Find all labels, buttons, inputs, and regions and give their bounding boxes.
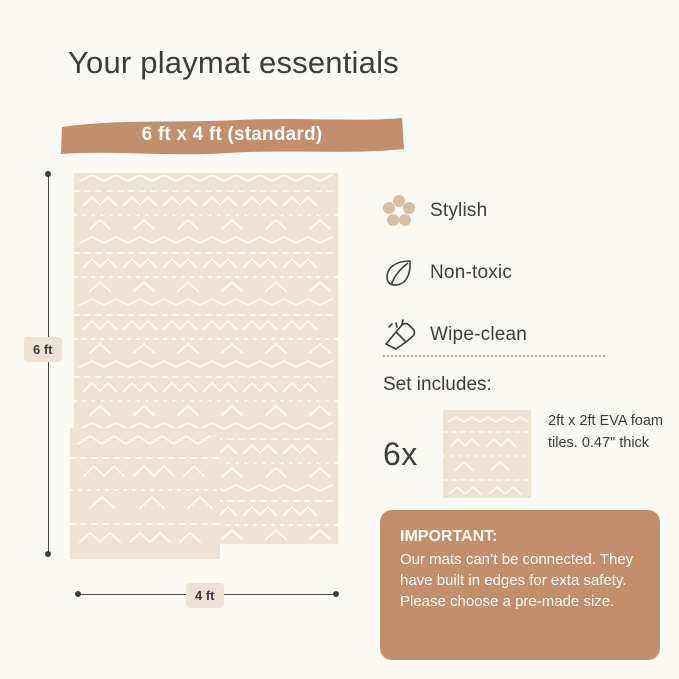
important-note: IMPORTANT: Our mats can’t be connected. … [380,510,660,660]
height-guide-dot-top [45,171,51,177]
eva-tile-image [443,410,531,498]
set-includes-heading: Set includes: [383,374,492,396]
infographic-page: Your playmat essentials 6 ft x 4 ft (sta… [0,0,679,679]
feature-label: Stylish [430,200,487,222]
tile-thumbnail-pattern [443,410,531,498]
size-banner-label: 6 ft x 4 ft (standard) [58,113,406,157]
single-tile-playmat-image [70,428,220,559]
feature-list: Stylish Non-toxic W [382,180,642,366]
section-divider [383,355,605,357]
flower-icon [382,194,430,228]
tile-description: 2ft x 2ft EVA foam tiles. 0.47" thick [548,410,668,454]
feature-label: Wipe-clean [430,324,527,346]
leaf-icon [382,256,430,290]
tile-quantity: 6x [383,436,418,473]
important-note-body: Our mats can’t be connected. They have b… [400,549,640,612]
mat-tile-pattern [70,428,220,559]
wiping-hand-icon [382,318,430,352]
size-banner: 6 ft x 4 ft (standard) [58,113,406,157]
width-guide-dot-left [75,591,81,597]
important-note-title: IMPORTANT: [400,528,640,546]
feature-item-stylish: Stylish [382,180,642,242]
width-label: 4 ft [186,583,224,608]
feature-label: Non-toxic [430,262,512,284]
page-title: Your playmat essentials [68,45,399,81]
height-label: 6 ft [24,337,62,362]
height-guide-dot-bottom [45,551,51,557]
width-guide-dot-right [333,591,339,597]
height-guide-line [48,173,49,556]
feature-item-non-toxic: Non-toxic [382,242,642,304]
